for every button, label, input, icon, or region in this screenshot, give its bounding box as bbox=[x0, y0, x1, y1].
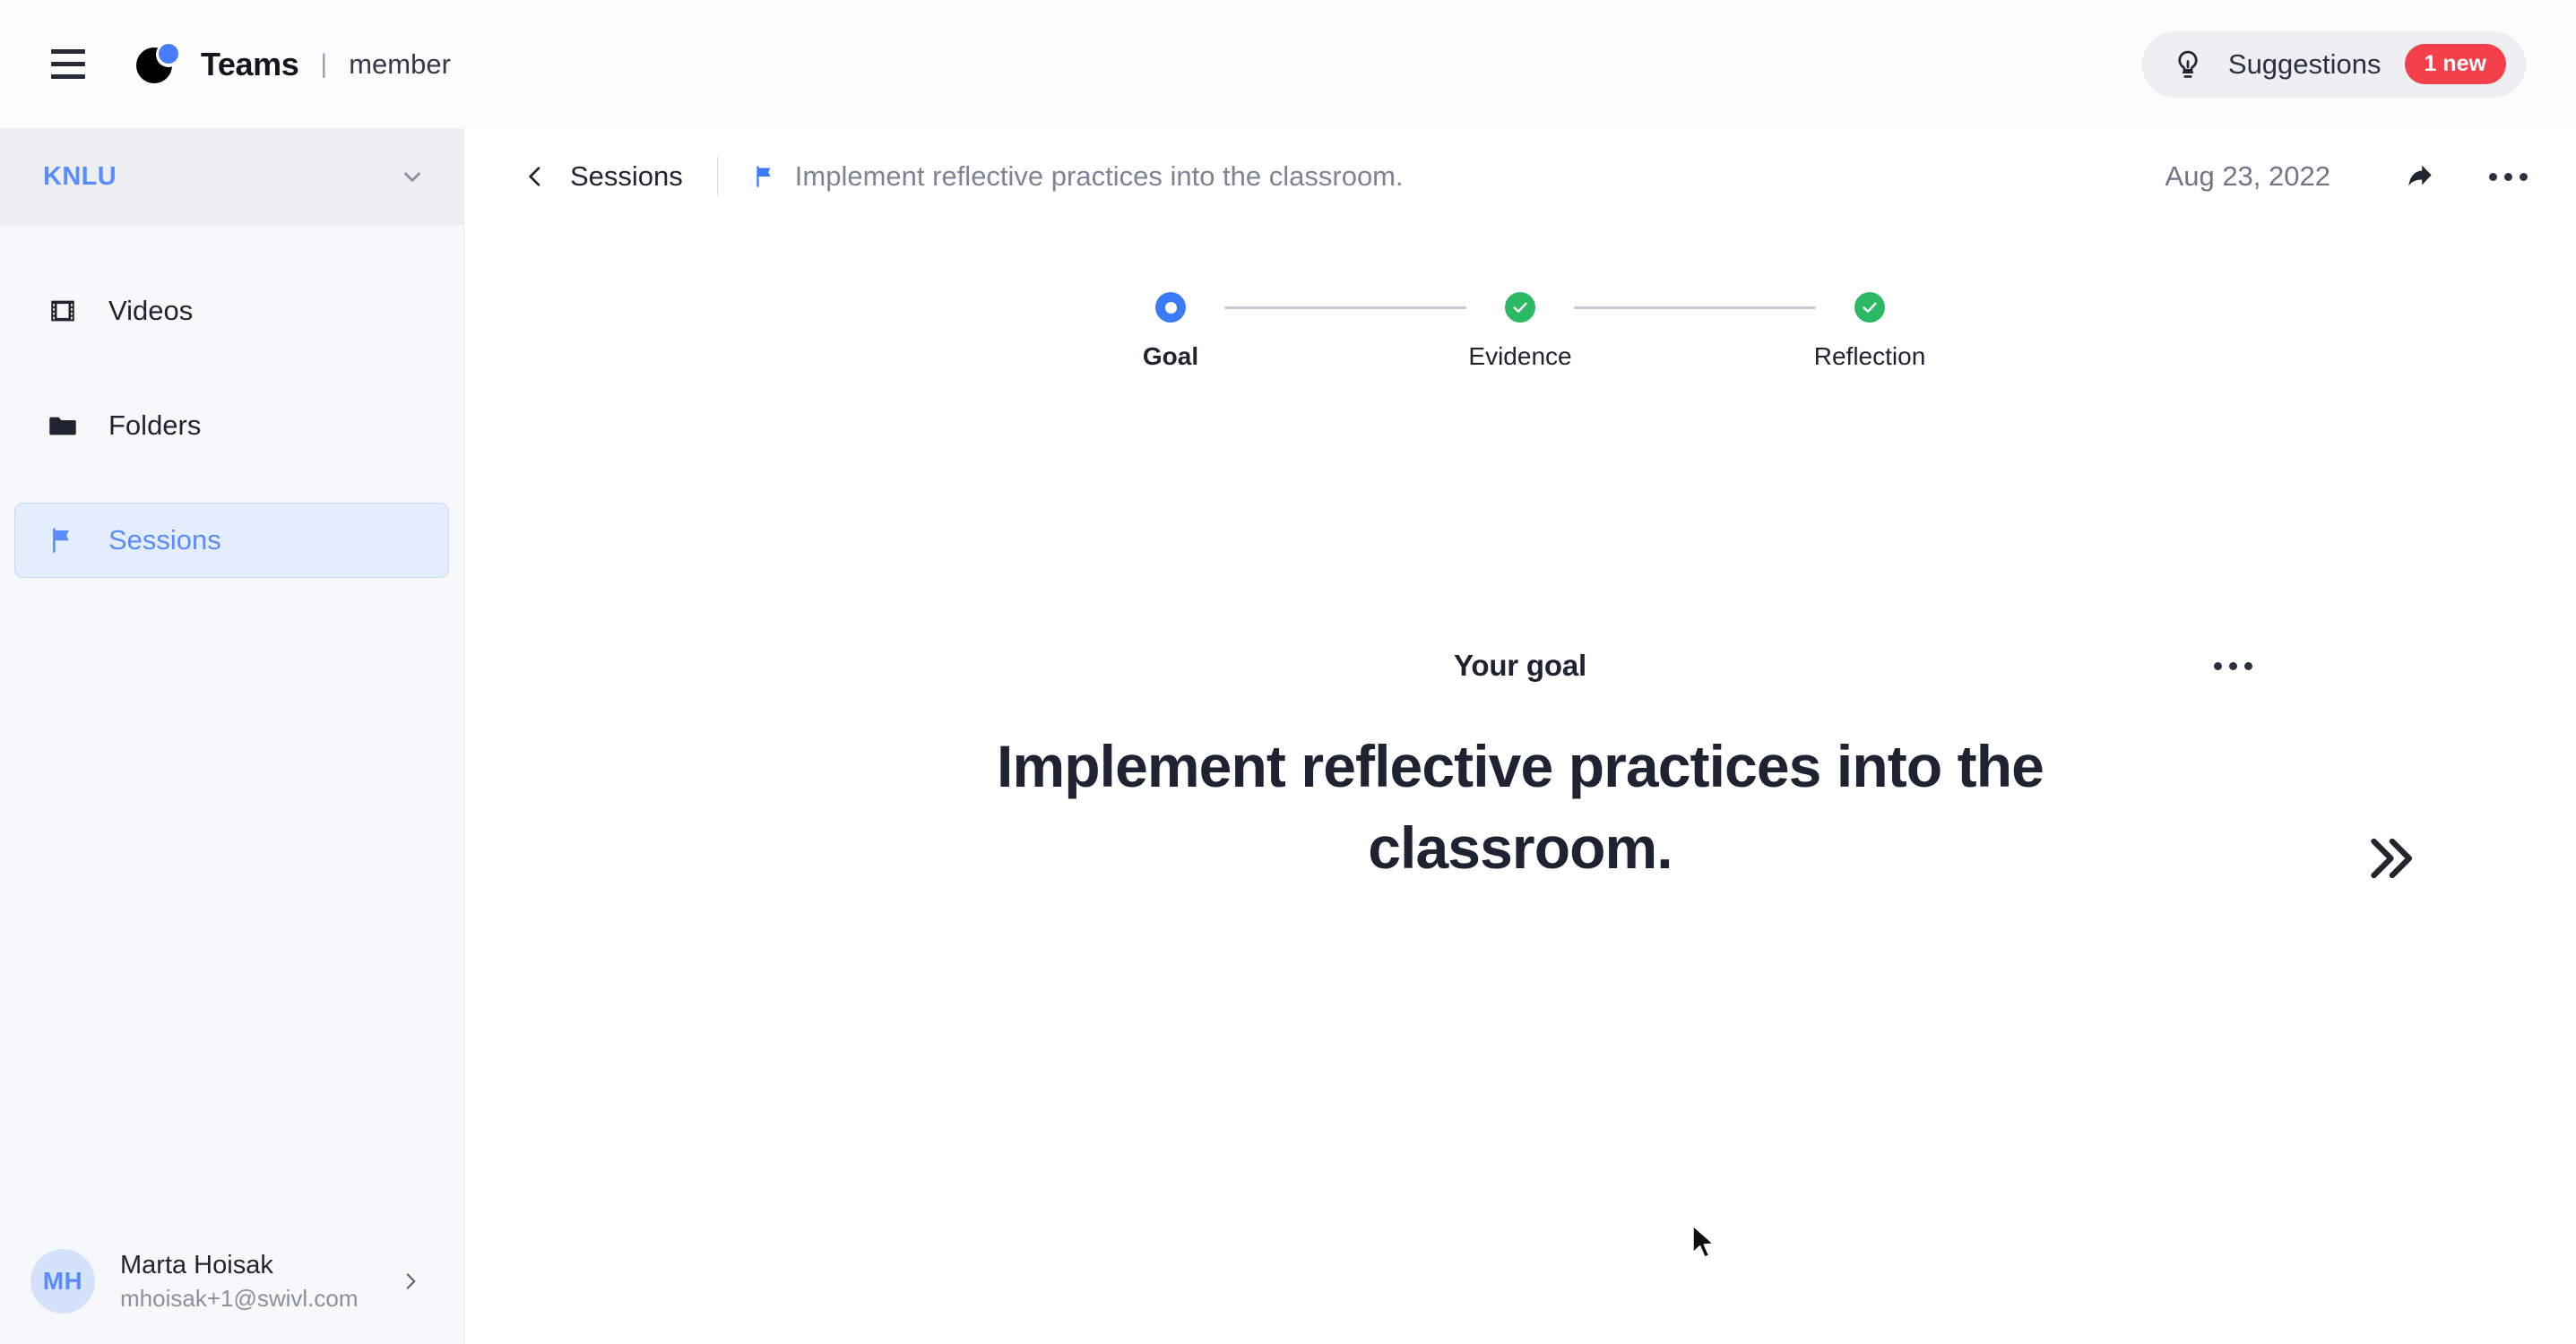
sidebar-item-label: Folders bbox=[108, 409, 201, 442]
user-text: Marta Hoisak mhoisak+1@swivl.com bbox=[120, 1248, 374, 1314]
more-horizontal-icon[interactable] bbox=[2483, 151, 2533, 202]
step-label: Evidence bbox=[1468, 342, 1571, 371]
flag-icon bbox=[46, 523, 80, 557]
brand-title: Teams bbox=[201, 46, 298, 83]
brand-separator: | bbox=[318, 49, 329, 80]
brand-role: member bbox=[349, 48, 451, 81]
breadcrumb-divider bbox=[717, 157, 718, 196]
org-name: KNLU bbox=[43, 162, 399, 192]
suggestions-button[interactable]: Suggestions 1 new bbox=[2142, 31, 2526, 98]
sidebar-item-folders[interactable]: Folders bbox=[14, 388, 449, 463]
hamburger-icon[interactable] bbox=[43, 39, 93, 90]
step-label: Reflection bbox=[1814, 342, 1926, 371]
hamburger-line bbox=[51, 62, 85, 66]
chevron-left-icon[interactable] bbox=[518, 159, 552, 194]
breadcrumb-current: Implement reflective practices into the … bbox=[795, 160, 1404, 193]
sidebar: KNLU Videos bbox=[0, 128, 464, 1344]
goal-card: Your goal Implement reflective practices… bbox=[464, 649, 2576, 889]
sidebar-item-label: Sessions bbox=[108, 524, 221, 556]
chevron-right-icon bbox=[399, 1270, 422, 1293]
step-connector bbox=[1574, 306, 1816, 309]
flag-icon bbox=[752, 162, 779, 191]
sidebar-item-sessions[interactable]: Sessions bbox=[14, 503, 449, 578]
hamburger-line bbox=[51, 49, 85, 54]
brand[interactable]: Teams | member bbox=[136, 42, 451, 87]
org-switcher[interactable]: KNLU bbox=[0, 128, 463, 225]
check-circle-icon[interactable] bbox=[1505, 292, 1535, 323]
breadcrumb-root[interactable]: Sessions bbox=[570, 160, 683, 193]
step-connector bbox=[1224, 306, 1466, 309]
hamburger-line bbox=[51, 74, 85, 79]
sidebar-nav: Videos Folders bbox=[0, 225, 463, 578]
goal-area: Your goal Implement reflective practices… bbox=[464, 371, 2576, 1344]
user-name: Marta Hoisak bbox=[120, 1248, 374, 1283]
goal-kicker: Your goal bbox=[1454, 649, 1586, 683]
suggestions-new-badge: 1 new bbox=[2405, 44, 2506, 84]
folder-icon bbox=[46, 409, 80, 443]
check-circle-icon[interactable] bbox=[1854, 292, 1885, 323]
suggestions-label: Suggestions bbox=[2228, 48, 2382, 81]
user-email: mhoisak+1@swivl.com bbox=[120, 1283, 374, 1314]
avatar: MH bbox=[30, 1249, 95, 1314]
goal-title: Implement reflective practices into the … bbox=[951, 726, 2089, 889]
user-profile[interactable]: MH Marta Hoisak mhoisak+1@swivl.com bbox=[0, 1219, 463, 1344]
lightbulb-icon bbox=[2171, 47, 2205, 82]
sidebar-spacer bbox=[0, 578, 463, 1219]
content-header: Sessions Implement reflective practices … bbox=[464, 128, 2576, 225]
swivl-logo-icon bbox=[136, 42, 181, 87]
step-goal[interactable]: Goal bbox=[1117, 292, 1224, 371]
chevron-down-icon bbox=[399, 163, 426, 190]
top-bar: Teams | member Suggestions 1 new bbox=[0, 0, 2576, 128]
dots bbox=[2489, 173, 2528, 181]
main-content: Sessions Implement reflective practices … bbox=[464, 128, 2576, 1344]
goal-more-horizontal-icon[interactable] bbox=[2208, 648, 2258, 684]
app-root: Teams | member Suggestions 1 new KNLU bbox=[0, 0, 2576, 1344]
stepper-track: Goal Evidence bbox=[1117, 292, 1923, 371]
double-chevron-right-icon[interactable] bbox=[2352, 821, 2427, 896]
share-arrow-icon[interactable] bbox=[2395, 151, 2445, 202]
step-reflection[interactable]: Reflection bbox=[1816, 292, 1923, 371]
sidebar-item-label: Videos bbox=[108, 295, 193, 327]
sidebar-item-videos[interactable]: Videos bbox=[14, 273, 449, 349]
session-date: Aug 23, 2022 bbox=[2165, 160, 2330, 193]
step-dot-current-icon[interactable] bbox=[1155, 292, 1186, 323]
step-evidence[interactable]: Evidence bbox=[1466, 292, 1574, 371]
dots bbox=[2214, 662, 2252, 670]
body-row: KNLU Videos bbox=[0, 128, 2576, 1344]
film-strip-icon bbox=[46, 294, 80, 328]
step-label: Goal bbox=[1143, 342, 1198, 371]
goal-kicker-row: Your goal bbox=[464, 649, 2576, 683]
progress-stepper: Goal Evidence bbox=[464, 225, 2576, 371]
